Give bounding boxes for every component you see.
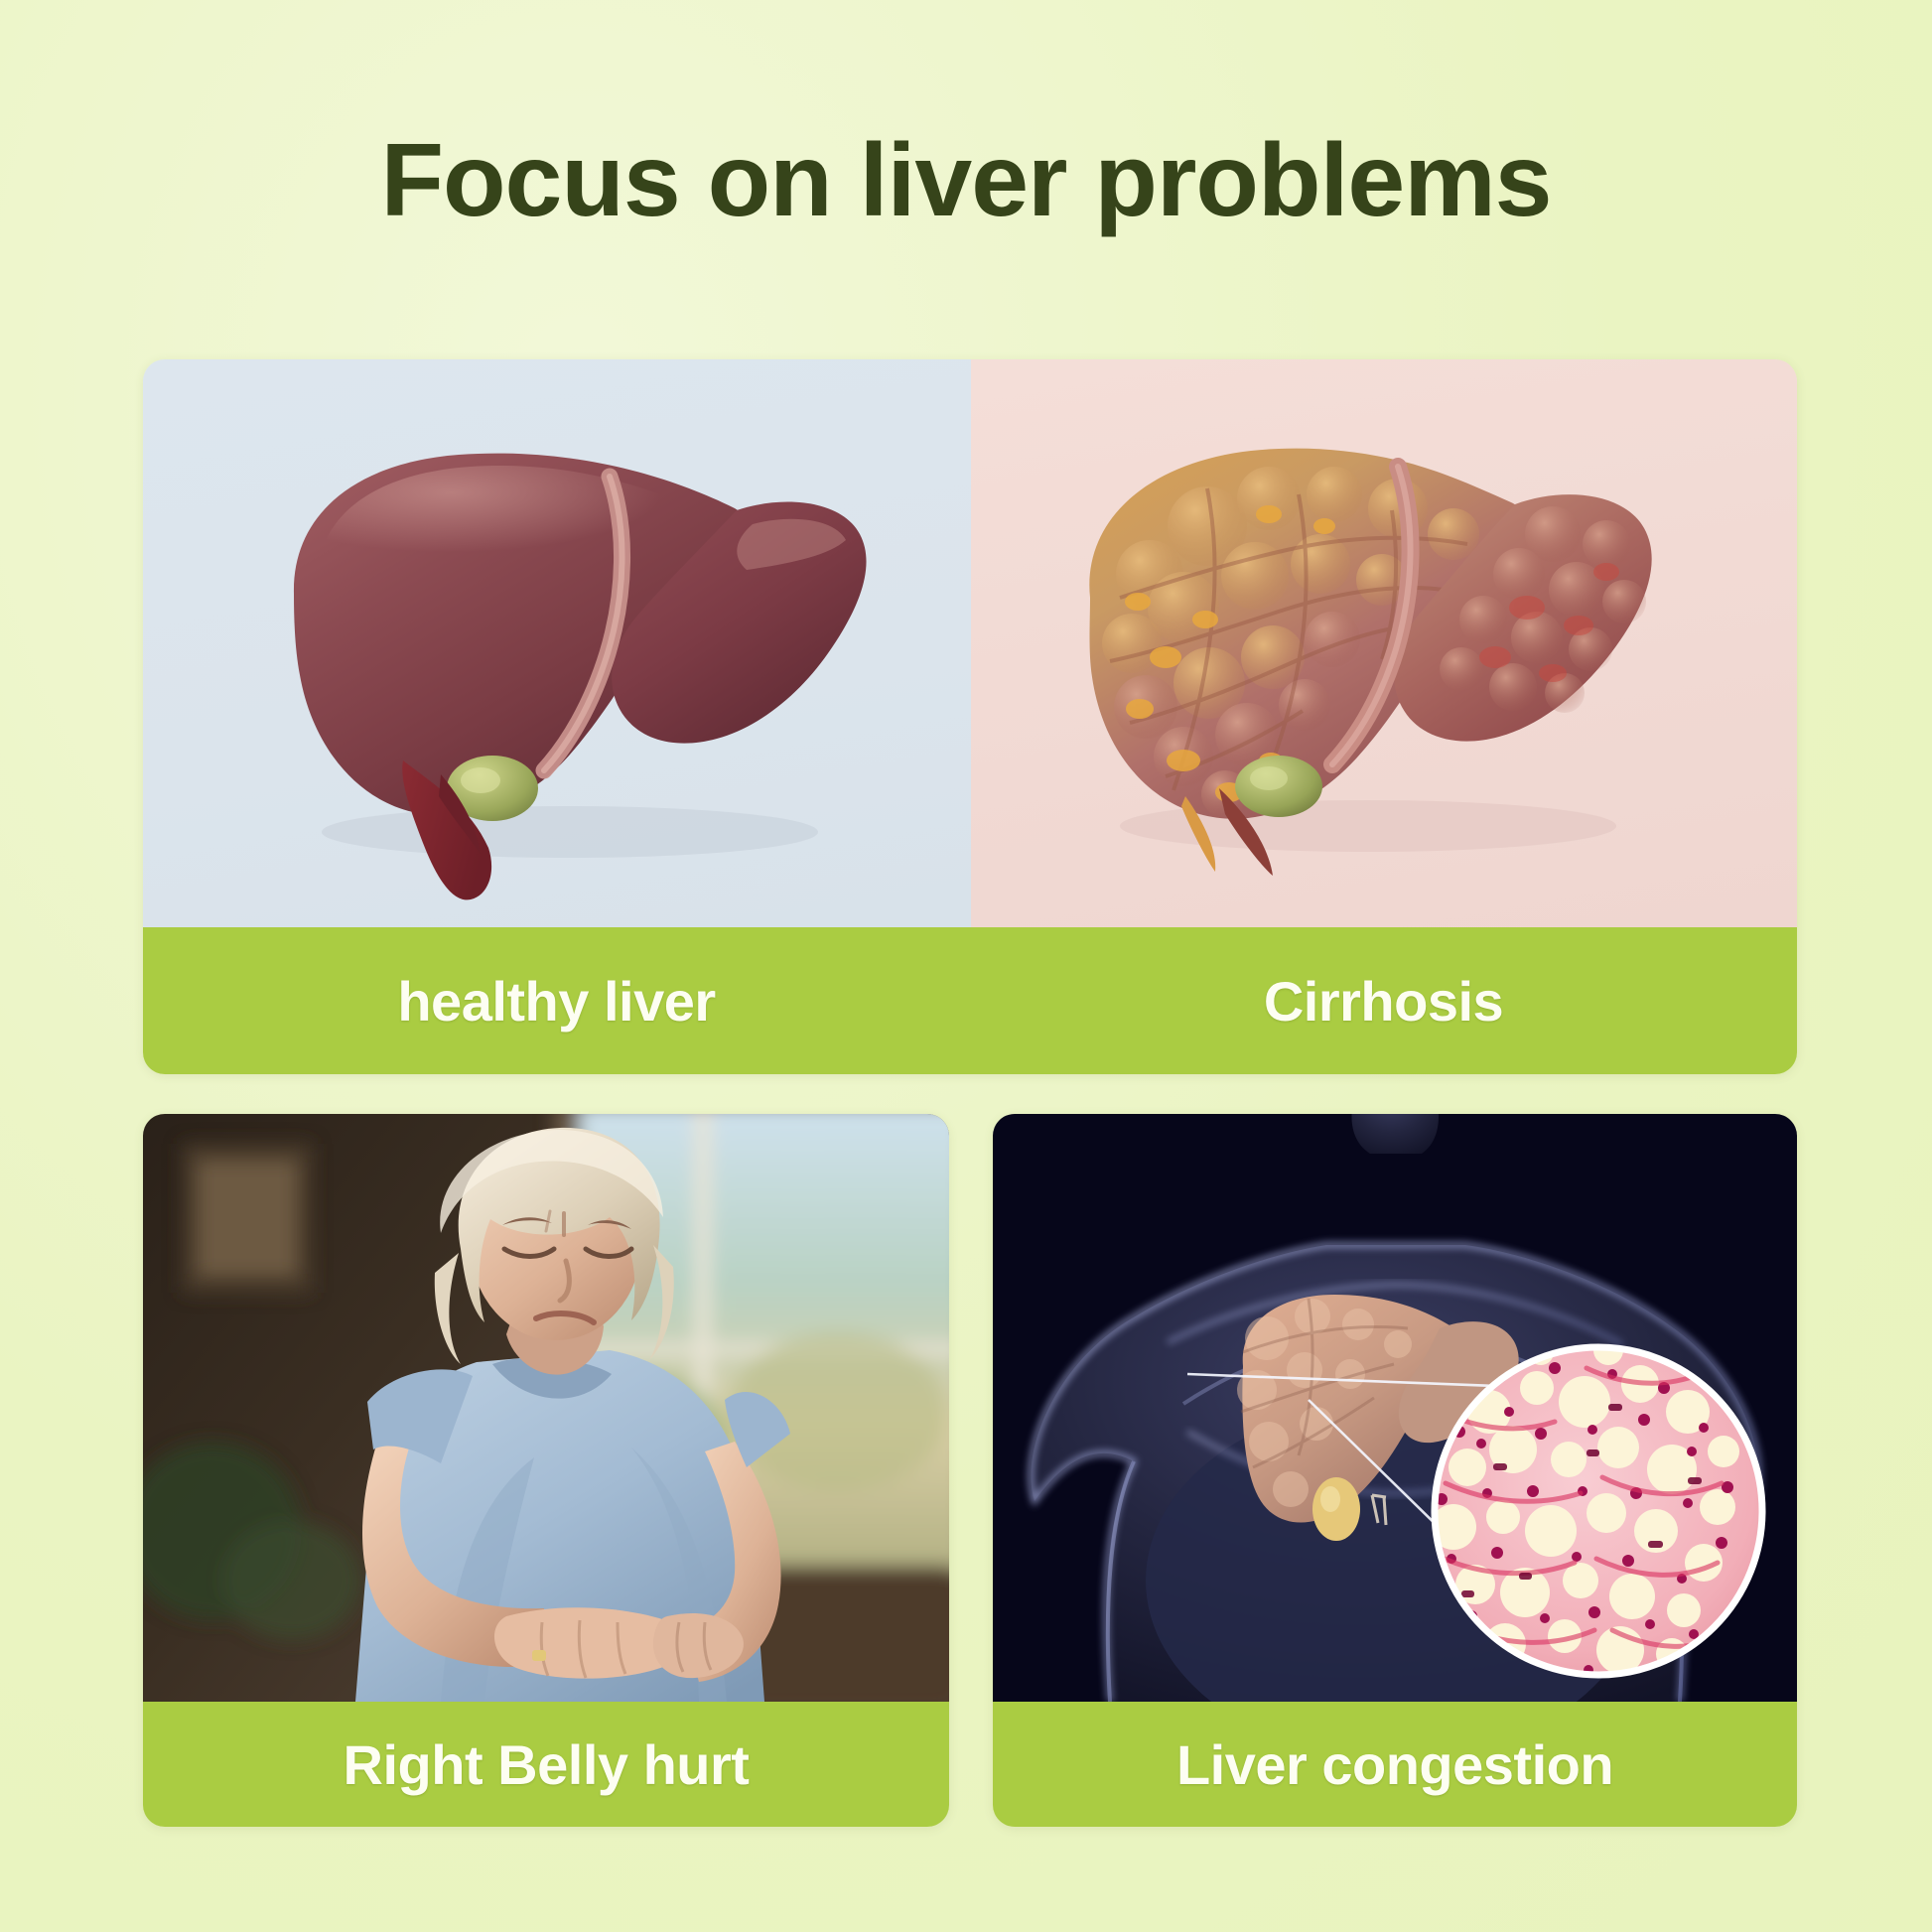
comparison-label-band: healthy liver Cirrhosis: [143, 927, 1797, 1074]
healthy-liver-illustration: [143, 359, 971, 927]
liver-congestion-media: [993, 1114, 1797, 1702]
comparison-card-livers: healthy liver Cirrhosis: [143, 359, 1797, 1074]
cirrhosis-liver-panel: [971, 359, 1797, 927]
card-label-liver-congestion: Liver congestion: [1176, 1732, 1613, 1797]
label-cell-healthy-liver: healthy liver: [143, 969, 970, 1034]
fatty-liver-anatomy-render-with-histology-inset: [993, 1114, 1797, 1702]
card-liver-congestion: Liver congestion: [993, 1114, 1797, 1827]
card-label-cirrhosis: Cirrhosis: [1264, 969, 1503, 1034]
card-right-belly-hurt: Right Belly hurt: [143, 1114, 949, 1827]
card-label-right-belly-hurt: Right Belly hurt: [344, 1732, 750, 1797]
elderly-woman-holding-right-abdomen-photo: [143, 1114, 949, 1702]
liver-problems-infographic: Focus on liver problems: [0, 0, 1932, 1932]
belly-pain-media: [143, 1114, 949, 1702]
card-label-healthy-liver: healthy liver: [397, 969, 715, 1034]
label-band-liver-congestion: Liver congestion: [993, 1702, 1797, 1827]
comparison-media: [143, 359, 1797, 927]
healthy-liver-panel: [143, 359, 971, 927]
label-band-right-belly-hurt: Right Belly hurt: [143, 1702, 949, 1827]
label-cell-cirrhosis: Cirrhosis: [970, 969, 1797, 1034]
page-title: Focus on liver problems: [0, 127, 1932, 235]
cirrhotic-liver-illustration: [971, 359, 1797, 927]
